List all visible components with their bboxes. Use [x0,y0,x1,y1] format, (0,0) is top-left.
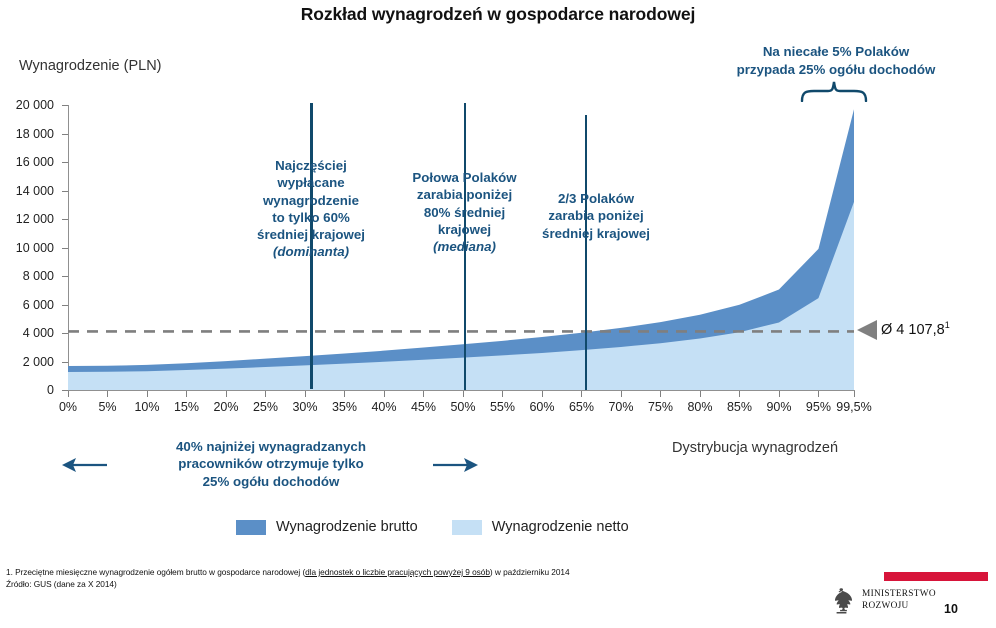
legend-label-brutto: Wynagrodzenie brutto [276,519,418,535]
x-axis-tick [779,391,780,397]
x-axis-tick [621,391,622,397]
callout-two-thirds-line2: zarabia poniżej [525,207,667,224]
callout-mediana-term: (mediana) [433,239,496,254]
y-axis-tick-label: 4 000 [23,326,54,340]
x-axis-tick [423,391,424,397]
red-accent-bar [884,572,988,581]
callout-bottom: 40% najniżej wynagradzanych pracowników … [108,438,434,490]
legend-swatch-netto [452,520,482,535]
average-arrow-icon [855,319,879,341]
y-axis-tick-label: 16 000 [16,155,54,169]
marker-line-two-thirds [585,115,587,390]
x-axis-labels: 0%5%10%15%20%25%30%35%40%45%50%55%60%65%… [68,400,855,420]
x-axis-ticks [68,391,855,398]
y-axis-labels: 02 0004 0006 0008 00010 00012 00014 0001… [0,105,62,390]
polish-eagle-icon [828,586,855,616]
callout-top-right-line1: Na niecałe 5% Polaków [706,43,966,61]
x-axis-tick-label: 85% [727,400,752,414]
x-axis-tick-label: 60% [529,400,554,414]
x-axis-tick [107,391,108,397]
arrow-right-icon [432,456,478,474]
x-axis-tick [581,391,582,397]
x-axis-tick [305,391,306,397]
x-axis-title: Dystrybucja wynagrodzeń [672,440,838,456]
average-value-text: Ø 4 107,8 [881,322,945,338]
callout-dominanta-term: (dominanta) [273,244,349,259]
callout-bottom-line2: pracowników otrzymuje tylko [108,455,434,472]
y-axis-tick-label: 0 [47,383,54,397]
callout-bottom-line1: 40% najniżej wynagradzanych [108,438,434,455]
page-title: Rozkład wynagrodzeń w gospodarce narodow… [0,4,996,25]
y-axis-tick-label: 20 000 [16,98,54,112]
y-axis-tick-label: 2 000 [23,355,54,369]
y-axis-title: Wynagrodzenie (PLN) [19,58,162,74]
x-axis-tick [739,391,740,397]
x-axis-tick-label: 80% [687,400,712,414]
chart-legend: Wynagrodzenie brutto Wynagrodzenie netto [236,519,629,535]
x-axis-tick [854,391,855,397]
ministry-logo-text: MINISTERSTWO ROZWOJU [862,589,936,612]
callout-dominanta-line3: wynagrodzenie [245,192,377,209]
x-axis-tick-label: 70% [608,400,633,414]
callout-mediana-line4: krajowej [396,221,533,238]
y-axis-tick-label: 18 000 [16,127,54,141]
y-axis-tick-label: 10 000 [16,241,54,255]
x-axis-tick-label: 55% [490,400,515,414]
arrow-left-icon [62,456,108,474]
footnote-line1: 1. Przeciętne miesięczne wynagrodzenie o… [6,566,570,578]
callout-top-right: Na niecałe 5% Polaków przypada 25% ogółu… [706,43,966,78]
callout-dominanta: Najczęściej wypłacane wynagrodzenie to t… [245,157,377,261]
callout-mediana-line1: Połowa Polaków [396,169,533,186]
callout-dominanta-line2: wypłacane [245,174,377,191]
callout-top-right-line2: przypada 25% ogółu dochodów [706,61,966,79]
footnote-line1-a: 1. Przeciętne miesięczne wynagrodzenie o… [6,567,305,577]
x-axis-tick-label: 10% [134,400,159,414]
average-value-label: Ø 4 107,81 [881,320,950,338]
callout-dominanta-line6: (dominanta) [245,243,377,260]
x-axis-tick [660,391,661,397]
footnote-source: Źródło: GUS (dane za X 2014) [6,578,570,590]
x-axis-tick [818,391,819,397]
x-axis-tick-label: 75% [648,400,673,414]
x-axis-tick [186,391,187,397]
callout-dominanta-line5: średniej krajowej [245,226,377,243]
x-axis-tick [147,391,148,397]
x-axis-tick-label: 15% [174,400,199,414]
callout-bottom-line3: 25% ogółu dochodów [108,473,434,490]
curly-brace-icon [800,80,868,102]
callout-mediana-line2: zarabia poniżej [396,186,533,203]
page-number: 10 [944,602,958,616]
callout-dominanta-line1: Najczęściej [245,157,377,174]
ministry-logo-line1: MINISTERSTWO [862,589,936,601]
x-axis-tick-label: 0% [59,400,77,414]
footnote-line1-b: ) w październiku 2014 [490,567,570,577]
legend-swatch-brutto [236,520,266,535]
legend-label-netto: Wynagrodzenie netto [492,519,629,535]
y-axis-tick-label: 14 000 [16,184,54,198]
x-axis-tick-label: 25% [253,400,278,414]
x-axis-tick [68,391,69,397]
footnote-line1-underlined: dla jednostek o liczbie pracujących powy… [305,567,490,577]
x-axis-tick-label: 5% [98,400,116,414]
x-axis-tick [502,391,503,397]
x-axis-tick [384,391,385,397]
x-axis-tick [265,391,266,397]
x-axis-tick [226,391,227,397]
callout-mediana-line5: (mediana) [396,238,533,255]
legend-item-netto: Wynagrodzenie netto [452,519,629,535]
ministry-logo-line2: ROZWOJU [862,601,936,613]
y-axis-tick-label: 12 000 [16,212,54,226]
callout-mediana: Połowa Polaków zarabia poniżej 80% średn… [396,169,533,255]
x-axis-tick-label: 20% [213,400,238,414]
x-axis-tick-label: 65% [569,400,594,414]
y-axis-tick-label: 6 000 [23,298,54,312]
ministry-logo: MINISTERSTWO ROZWOJU [828,586,936,616]
x-axis-tick-label: 45% [411,400,436,414]
callout-two-thirds-line1: 2/3 Polaków [525,190,667,207]
x-axis-tick-label: 40% [371,400,396,414]
x-axis-tick [700,391,701,397]
x-axis-tick [463,391,464,397]
footnote: 1. Przeciętne miesięczne wynagrodzenie o… [6,566,570,590]
y-axis-tick-label: 8 000 [23,269,54,283]
x-axis-tick-label: 35% [332,400,357,414]
callout-dominanta-line4: to tylko 60% [245,209,377,226]
legend-item-brutto: Wynagrodzenie brutto [236,519,418,535]
callout-two-thirds: 2/3 Polaków zarabia poniżej średniej kra… [525,190,667,242]
x-axis-tick [344,391,345,397]
x-axis-tick-label: 30% [292,400,317,414]
x-axis-tick-label: 90% [766,400,791,414]
callout-mediana-line3: 80% średniej [396,204,533,221]
average-footnote-marker: 1 [945,320,950,330]
x-axis-tick [542,391,543,397]
x-axis-tick-label: 50% [450,400,475,414]
x-axis-tick-label: 99,5% [836,400,871,414]
x-axis-tick-label: 95% [806,400,831,414]
callout-two-thirds-line3: średniej krajowej [525,225,667,242]
